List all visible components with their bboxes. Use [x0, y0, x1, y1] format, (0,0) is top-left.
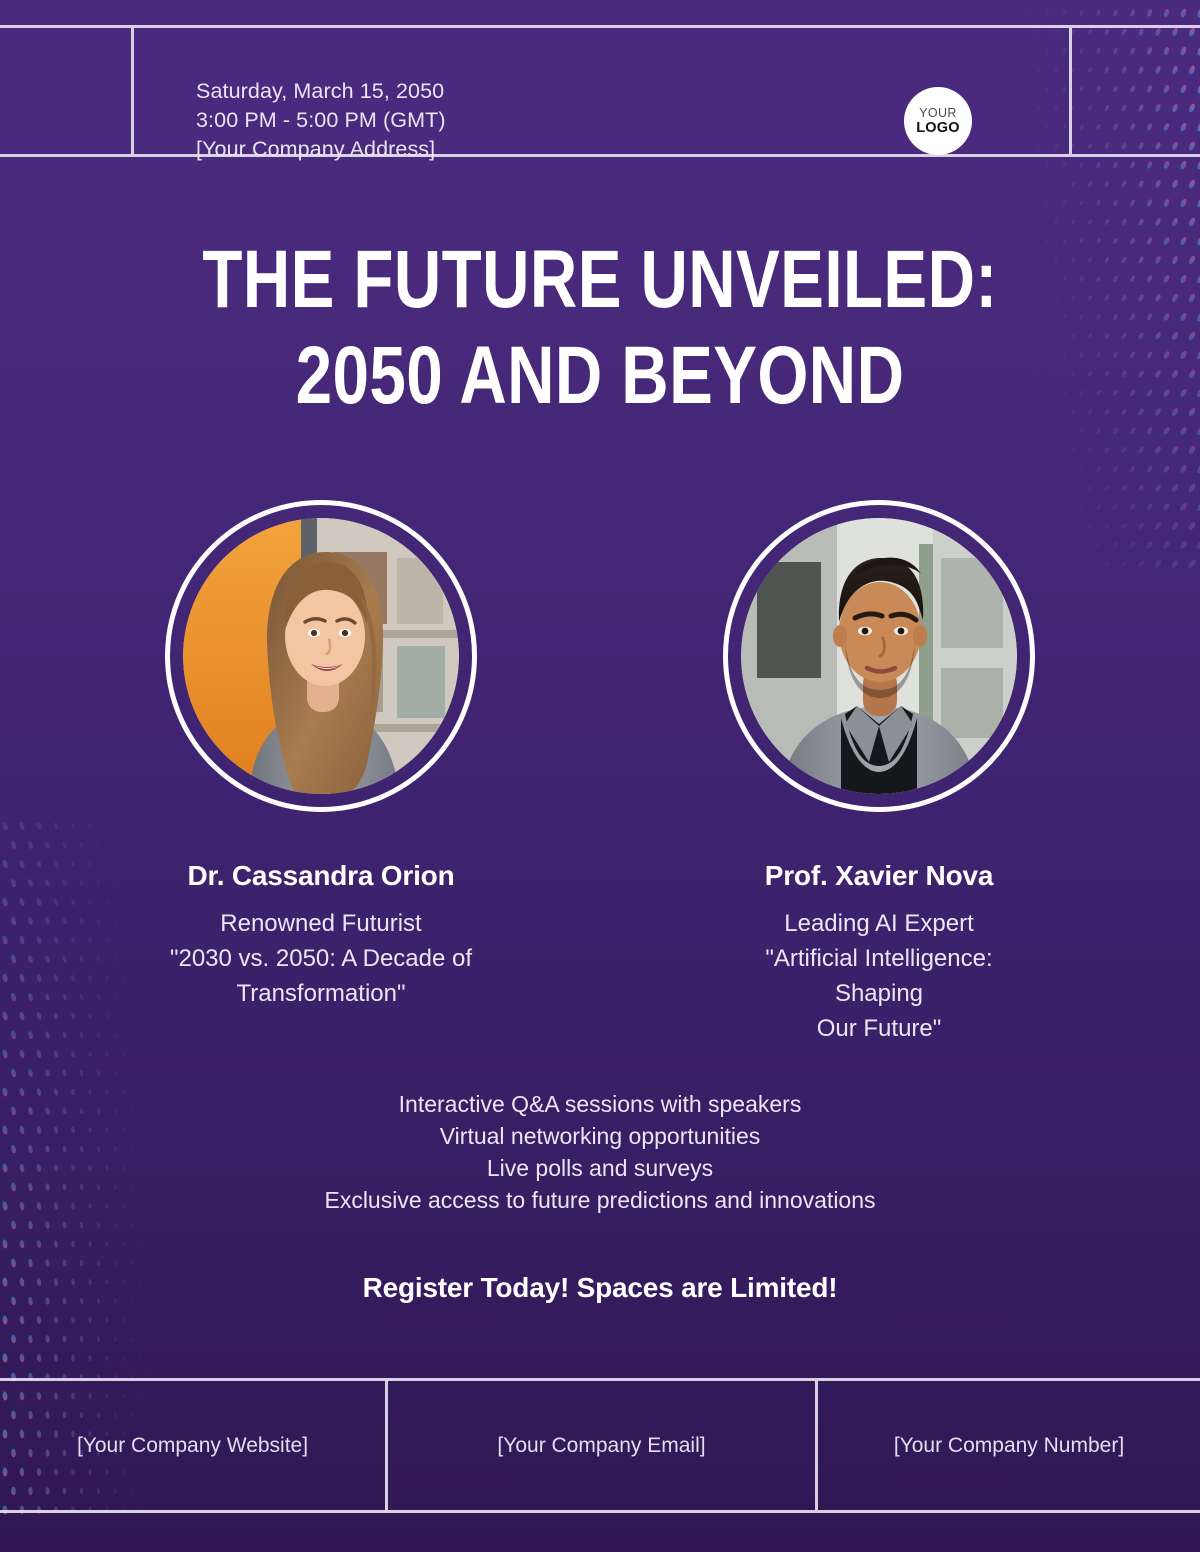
speaker-role-2: Leading AI Expert "Artificial Intelligen… — [719, 906, 1039, 1046]
speakers-section: Dr. Cassandra Orion Renowned Futurist "2… — [0, 500, 1200, 1046]
company-logo[interactable]: YOUR LOGO — [904, 87, 972, 155]
event-datetime-address: Saturday, March 15, 2050 3:00 PM - 5:00 … — [196, 77, 446, 164]
speaker-card-1: Dr. Cassandra Orion Renowned Futurist "2… — [161, 500, 481, 1046]
event-title: THE FUTURE UNVEILED: 2050 AND BEYOND — [120, 232, 1080, 424]
benefit-item-2: Virtual networking opportunities — [0, 1120, 1200, 1152]
logo-line-2: LOGO — [916, 121, 960, 136]
speaker-photo-1 — [183, 518, 459, 794]
footer-email[interactable]: [Your Company Email] — [388, 1380, 815, 1512]
benefit-item-3: Live polls and surveys — [0, 1152, 1200, 1184]
footer-website-label: [Your Company Website] — [77, 1434, 308, 1458]
footer-phone-label: [Your Company Number] — [894, 1434, 1124, 1458]
benefit-item-4: Exclusive access to future predictions a… — [0, 1184, 1200, 1216]
speaker-name-1: Dr. Cassandra Orion — [188, 860, 455, 892]
cta-text: Register Today! Spaces are Limited! — [0, 1272, 1200, 1304]
footer-website[interactable]: [Your Company Website] — [0, 1380, 385, 1512]
header-band: Saturday, March 15, 2050 3:00 PM - 5:00 … — [0, 25, 1200, 157]
logo-line-1: YOUR — [919, 107, 957, 120]
speaker-photo-2 — [741, 518, 1017, 794]
benefit-item-1: Interactive Q&A sessions with speakers — [0, 1088, 1200, 1120]
event-flyer: Saturday, March 15, 2050 3:00 PM - 5:00 … — [0, 0, 1200, 1552]
speaker-photo-ring-1 — [165, 500, 477, 812]
benefits-list: Interactive Q&A sessions with speakers V… — [0, 1088, 1200, 1216]
speaker-card-2: Prof. Xavier Nova Leading AI Expert "Art… — [719, 500, 1039, 1046]
speaker-role-1: Renowned Futurist "2030 vs. 2050: A Deca… — [170, 906, 472, 1011]
footer-email-label: [Your Company Email] — [497, 1434, 705, 1458]
footer-phone[interactable]: [Your Company Number] — [818, 1380, 1200, 1512]
speaker-photo-ring-2 — [723, 500, 1035, 812]
speaker-name-2: Prof. Xavier Nova — [765, 860, 993, 892]
